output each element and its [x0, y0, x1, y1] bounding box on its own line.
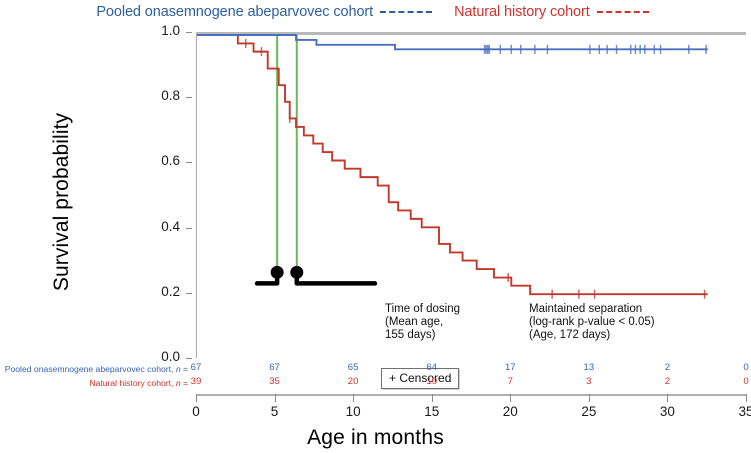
- risk-table-cell: 2: [652, 376, 682, 387]
- risk-table-cell: 2: [652, 362, 682, 373]
- y-axis-title: Survival probability: [50, 52, 74, 352]
- annotation-leader-lines: [257, 266, 375, 284]
- numbers-at-risk-table: Pooled onasemnogene abeparvovec cohort, …: [0, 362, 751, 394]
- x-tick-mark: [589, 394, 590, 402]
- y-tick-label: 0.4: [136, 219, 180, 234]
- risk-table-cell: 13: [574, 362, 604, 373]
- x-tick-mark: [510, 394, 511, 402]
- risk-table-cell: 65: [338, 362, 368, 373]
- y-tick-label: 0.2: [136, 284, 180, 299]
- x-tick-label: 0: [176, 404, 216, 419]
- survival-curves-svg: [197, 35, 747, 361]
- x-tick-mark: [746, 394, 747, 402]
- risk-row-label: Pooled onasemnogene abeparvovec cohort, …: [0, 364, 188, 374]
- legend-dash-red-icon: [597, 11, 649, 13]
- y-tick-mark: [186, 228, 192, 229]
- risk-table-cell: 67: [260, 362, 290, 373]
- annotation-anchor-dot: [290, 266, 303, 279]
- risk-table-cell: 10: [417, 376, 447, 387]
- y-tick-label: 0.8: [136, 88, 180, 103]
- legend-dash-blue-icon: [380, 11, 432, 13]
- survival-step-path: [197, 35, 708, 294]
- risk-table-cell: 35: [260, 376, 290, 387]
- x-tick-label: 5: [255, 404, 295, 419]
- chart-legend: Pooled onasemnogene abeparvovec cohort N…: [0, 2, 751, 22]
- risk-table-cell: 64: [417, 362, 447, 373]
- x-tick-mark: [667, 394, 668, 402]
- risk-table-cell: 0: [731, 362, 751, 373]
- annotation-anchor-dot: [271, 266, 284, 279]
- x-tick-label: 35: [726, 404, 751, 419]
- x-axis-title: Age in months: [0, 426, 751, 450]
- annotation-maintained-separation: Maintained separation (log-rank p-value …: [529, 303, 655, 343]
- risk-table-cell: 7: [495, 376, 525, 387]
- risk-table-cell: 17: [495, 362, 525, 373]
- risk-table-cell: 67: [181, 362, 211, 373]
- risk-table-cell: 3: [574, 376, 604, 387]
- x-tick-label: 10: [333, 404, 373, 419]
- x-tick-mark: [432, 394, 433, 402]
- risk-row-label: Natural history cohort, n =: [0, 378, 188, 388]
- y-tick-mark: [186, 97, 192, 98]
- plot-area: Time of dosing (Mean age, 155 days) Main…: [196, 32, 746, 358]
- risk-table-cell: 0: [731, 376, 751, 387]
- x-tick-label: 30: [647, 404, 687, 419]
- curve-pooled-cohort: [197, 35, 708, 54]
- kaplan-meier-figure: Pooled onasemnogene abeparvovec cohort N…: [0, 0, 751, 453]
- annotation-leader-line: [297, 272, 375, 283]
- x-tick-mark: [196, 394, 197, 402]
- y-tick-label: 1.0: [136, 23, 180, 38]
- y-tick-mark: [186, 293, 192, 294]
- x-tick-label: 20: [490, 404, 530, 419]
- risk-table-cell: 39: [181, 376, 211, 387]
- x-tick-label: 15: [412, 404, 452, 419]
- x-axis-line: [196, 394, 746, 396]
- legend-entry-pooled-cohort: Pooled onasemnogene abeparvovec cohort: [96, 4, 438, 20]
- x-tick-mark: [353, 394, 354, 402]
- y-tick-mark: [186, 358, 192, 359]
- annotation-time-of-dosing: Time of dosing (Mean age, 155 days): [385, 303, 460, 343]
- legend-label-natural-history: Natural history cohort: [454, 4, 590, 20]
- legend-entry-natural-history: Natural history cohort: [454, 4, 655, 20]
- x-tick-label: 25: [569, 404, 609, 419]
- y-tick-label: 0.6: [136, 153, 180, 168]
- x-tick-mark: [275, 394, 276, 402]
- curve-natural-history: [197, 35, 708, 299]
- risk-table-cell: 20: [338, 376, 368, 387]
- legend-label-pooled-cohort: Pooled onasemnogene abeparvovec cohort: [96, 4, 373, 20]
- y-tick-mark: [186, 162, 192, 163]
- vertical-marker-lines: [277, 35, 297, 273]
- y-tick-mark: [186, 32, 192, 33]
